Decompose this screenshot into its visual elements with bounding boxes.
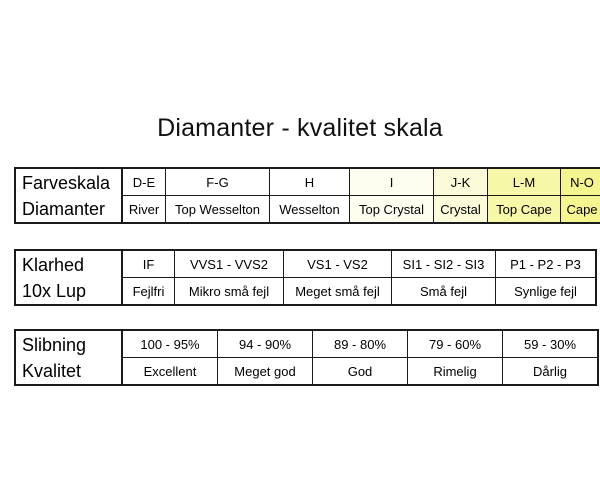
clarity-scale-label-line1: Klarhed (22, 252, 121, 278)
cut-scale-label-line2: Kvalitet (22, 358, 121, 384)
cut-name-cell: Dårlig (503, 358, 599, 386)
clarity-grade-cell: VS1 - VS2 (284, 250, 392, 278)
cut-name-cell: Meget god (218, 358, 313, 386)
color-scale-table: Farveskala Diamanter D-E F-G H I J-K L-M… (14, 167, 600, 224)
color-grade-cell: J-K (434, 168, 488, 196)
color-grade-cell: F-G (166, 168, 270, 196)
table-row: Slibning Kvalitet 100 - 95% 94 - 90% 89 … (15, 330, 598, 358)
cut-name-cell: God (313, 358, 408, 386)
diamond-quality-chart-page: Diamanter - kvalitet skala Farveskala Di… (0, 0, 600, 500)
clarity-name-cell: Små fejl (392, 278, 496, 306)
color-scale-label-line2: Diamanter (22, 196, 121, 222)
clarity-grade-cell: P1 - P2 - P3 (496, 250, 597, 278)
cut-grade-cell: 79 - 60% (408, 330, 503, 358)
table-row: Farveskala Diamanter D-E F-G H I J-K L-M… (15, 168, 600, 196)
cut-scale-table: Slibning Kvalitet 100 - 95% 94 - 90% 89 … (14, 329, 599, 386)
clarity-grade-cell: SI1 - SI2 - SI3 (392, 250, 496, 278)
color-scale-label-line1: Farveskala (22, 170, 121, 196)
table-row: Klarhed 10x Lup IF VVS1 - VVS2 VS1 - VS2… (15, 250, 596, 278)
color-grade-cell: N-O (561, 168, 600, 196)
cut-scale-row-labels: Slibning Kvalitet (15, 330, 122, 385)
clarity-grade-cell: IF (122, 250, 175, 278)
clarity-scale-row-labels: Klarhed 10x Lup (15, 250, 122, 305)
cut-grade-cell: 89 - 80% (313, 330, 408, 358)
color-name-cell: Top Wesselton (166, 196, 270, 224)
color-name-cell: Top Cape (488, 196, 561, 224)
clarity-grade-cell: VVS1 - VVS2 (175, 250, 284, 278)
color-name-cell: River (122, 196, 166, 224)
cut-name-cell: Rimelig (408, 358, 503, 386)
color-name-cell: Cape (561, 196, 600, 224)
color-name-cell: Crystal (434, 196, 488, 224)
clarity-name-cell: Mikro små fejl (175, 278, 284, 306)
clarity-name-cell: Fejlfri (122, 278, 175, 306)
cut-name-cell: Excellent (122, 358, 218, 386)
color-grade-cell: L-M (488, 168, 561, 196)
clarity-scale-table: Klarhed 10x Lup IF VVS1 - VVS2 VS1 - VS2… (14, 249, 597, 306)
color-grade-cell: H (270, 168, 350, 196)
cut-grade-cell: 94 - 90% (218, 330, 313, 358)
cut-grade-cell: 100 - 95% (122, 330, 218, 358)
clarity-name-cell: Synlige fejl (496, 278, 597, 306)
clarity-name-cell: Meget små fejl (284, 278, 392, 306)
clarity-scale-label-line2: 10x Lup (22, 278, 121, 304)
color-grade-cell: I (350, 168, 434, 196)
color-name-cell: Top Crystal (350, 196, 434, 224)
page-title: Diamanter - kvalitet skala (0, 113, 600, 143)
color-grade-cell: D-E (122, 168, 166, 196)
color-name-cell: Wesselton (270, 196, 350, 224)
cut-scale-label-line1: Slibning (22, 332, 121, 358)
cut-grade-cell: 59 - 30% (503, 330, 599, 358)
color-scale-row-labels: Farveskala Diamanter (15, 168, 122, 223)
